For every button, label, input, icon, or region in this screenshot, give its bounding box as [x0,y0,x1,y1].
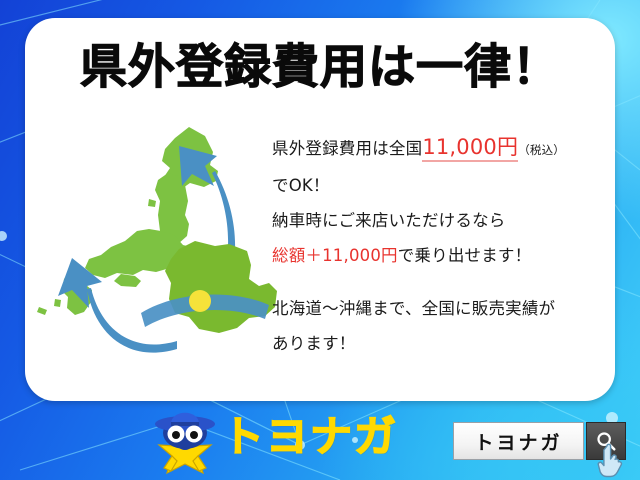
body-line-4: 総額＋11,000円で乗り出せます！ [272,238,615,273]
map-kyushu-islet [54,299,61,307]
map-okinawa [37,307,47,315]
body-line-5: 北海道〜沖縄まで、全国に販売実績が [272,291,615,326]
mascot-svg [145,406,225,478]
japan-map-illustration [37,113,282,393]
search-input[interactable]: トヨナガ [453,422,584,460]
body-line-6: あります！ [272,326,615,361]
map-home-prefecture [165,241,277,333]
line1-price: 11,000円 [422,135,518,162]
brand-logo-text: トヨナガ [222,416,398,458]
map-shikoku [114,274,141,287]
map-sado [148,199,156,207]
hand-cursor-icon [596,442,632,480]
body-line-1: 県外登録費用は全国11,000円（税込） [272,130,615,168]
search-input-value: トヨナガ [474,428,562,455]
body-text-block: 県外登録費用は全国11,000円（税込） でOK！ 納車時にご来店いただけるなら… [272,130,615,361]
mascot-right-pupil [190,431,198,439]
line4-total-price: 総額＋11,000円 [272,246,398,265]
main-card: 県外登録費用は一律！ [25,18,615,401]
mascot-left-pupil [172,431,180,439]
bottom-brand-bar: トヨナガ トヨナガ [0,402,640,480]
line1-tax-note: （税込） [518,143,565,157]
line1-prefix: 県外登録費用は全国 [272,139,422,158]
japan-map-svg [37,113,282,393]
page-title: 県外登録費用は一律！ [25,44,615,91]
mascot-hat-band [171,422,199,426]
toyonaga-mascot [145,406,225,478]
pointing-hand-cursor [596,442,632,480]
text-spacer [272,273,615,291]
body-line-3: 納車時にご来店いただけるなら [272,203,615,238]
dealer-location-marker [189,290,211,312]
arrow-to-kyushu [87,288,177,353]
line4-rest: で乗り出せます！ [398,246,532,265]
body-line-2: でOK！ [272,168,615,203]
